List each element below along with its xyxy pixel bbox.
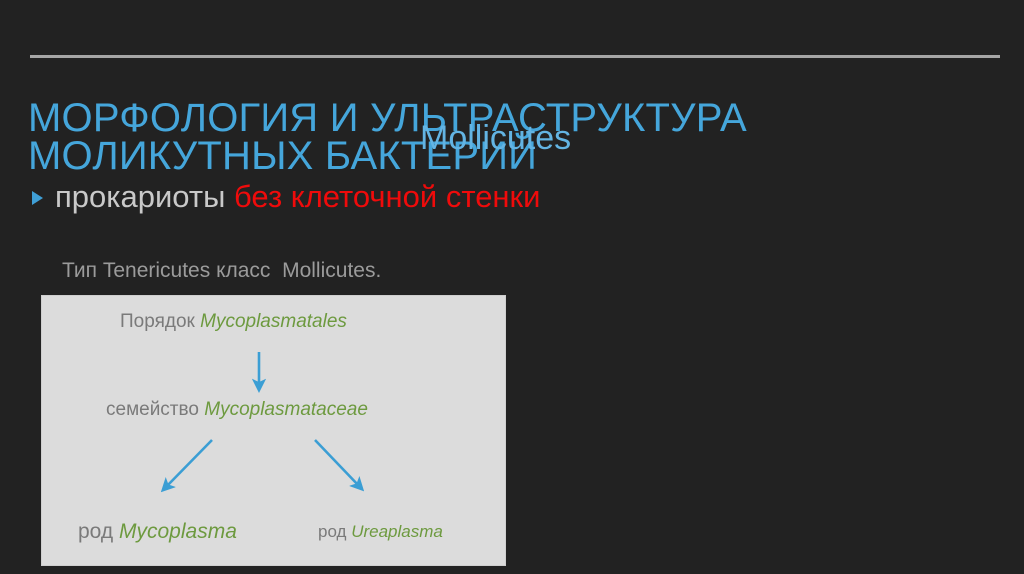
node-rank-label: род	[78, 520, 113, 543]
arrow-family-to-ureaplasma	[315, 440, 360, 487]
node-rank-label: Порядок	[120, 311, 195, 332]
subtitle-text: Тип Tenericutes класс Mollicutes.	[62, 258, 381, 284]
title-divider-rule	[30, 55, 1000, 58]
taxonomy-node-order: Порядок Mycoplasmatales	[120, 311, 347, 333]
taxonomy-node-genus-mycoplasma: род Mycoplasma	[78, 520, 237, 544]
node-taxon-name: Ureaplasma	[351, 522, 443, 541]
bullet-item-text: прокариоты без клеточной стенки	[55, 180, 540, 214]
taxonomy-diagram-panel: Порядок Mycoplasmatales семейство Mycopl…	[41, 295, 506, 566]
node-taxon-name: Mycoplasmatales	[200, 311, 347, 332]
node-rank-label: семейство	[106, 399, 199, 420]
node-rank-label: род	[318, 522, 346, 541]
taxonomy-node-genus-ureaplasma: род Ureaplasma	[318, 522, 443, 542]
slide: Морфология и ультраструктура моликутных …	[0, 0, 1024, 574]
bullet-text-plain: прокариоты	[55, 179, 225, 214]
taxonomy-node-family: семейство Mycoplasmataceae	[106, 399, 368, 421]
node-taxon-name: Mycoplasma	[119, 520, 237, 543]
arrow-family-to-mycoplasma	[165, 440, 212, 488]
bullet-text-accent: без клеточной стенки	[234, 179, 540, 214]
triangle-right-bullet-icon	[32, 191, 43, 205]
node-taxon-name: Mycoplasmataceae	[204, 399, 368, 420]
title-overlay-textbox: Mollicutes	[420, 120, 571, 156]
bullet-list-item: прокариоты без клеточной стенки	[32, 180, 540, 214]
